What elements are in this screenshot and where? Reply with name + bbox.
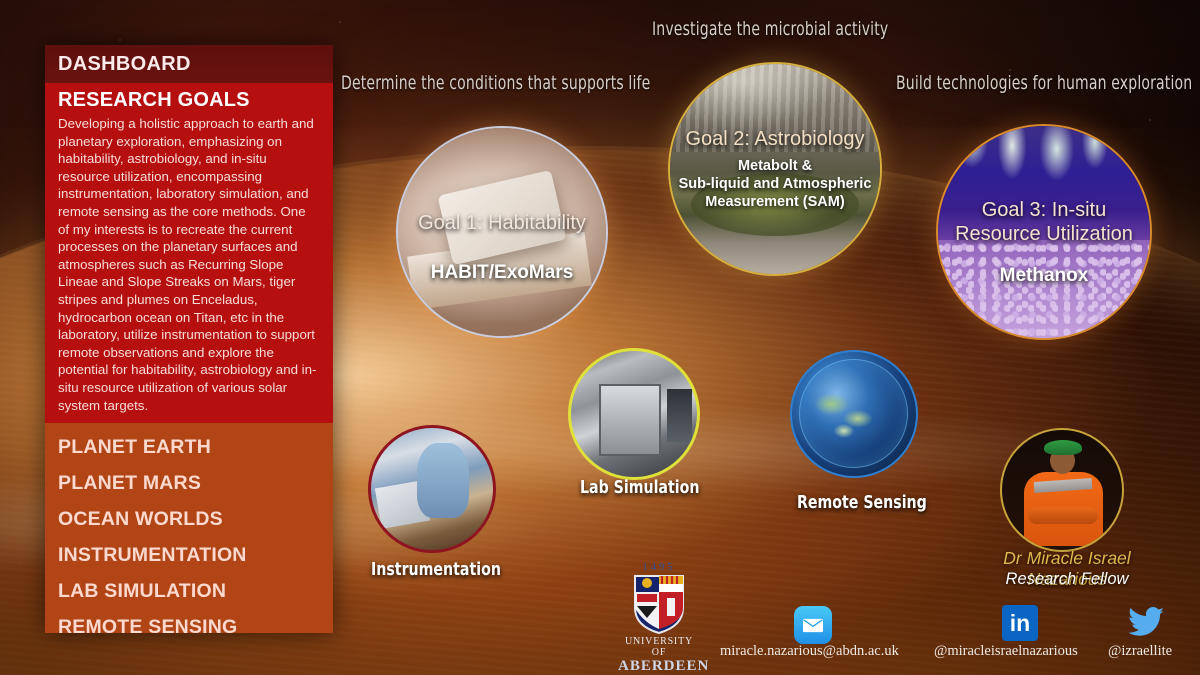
heading-determine-conditions: Determine the conditions that supports l… — [341, 72, 650, 94]
method-circle-lab-simulation[interactable] — [568, 348, 700, 480]
goal1-subtitle: HABIT/ExoMars — [431, 263, 574, 282]
avatar[interactable] — [1000, 428, 1124, 552]
twitter-icon[interactable] — [1128, 606, 1166, 640]
sidebar-item-planet-earth[interactable]: PLANET EARTH — [45, 429, 333, 465]
sidebar-item-lab-simulation[interactable]: LAB SIMULATION — [45, 573, 333, 609]
sidebar: DASHBOARD RESEARCH GOALS Developing a ho… — [45, 45, 333, 633]
method-circle-instrumentation[interactable] — [368, 425, 496, 553]
university-line2: ABERDEEN — [618, 658, 700, 675]
caption-instrumentation: Instrumentation — [371, 560, 501, 580]
email-icon[interactable] — [794, 606, 832, 644]
goal3-subtitle: Methanox — [1000, 266, 1089, 285]
linkedin-icon[interactable]: in — [1002, 605, 1038, 641]
hard-hat-icon — [1044, 440, 1082, 456]
sidebar-header[interactable]: DASHBOARD — [45, 45, 333, 83]
sidebar-item-instrumentation[interactable]: INSTRUMENTATION — [45, 537, 333, 573]
sidebar-menu: PLANET EARTH PLANET MARS OCEAN WORLDS IN… — [45, 423, 333, 633]
research-goals-title: RESEARCH GOALS — [58, 89, 320, 112]
goal2-title: Goal 2: Astrobiology — [686, 127, 865, 151]
avatar-arms — [1028, 507, 1098, 524]
goal3-title: Goal 3: In-situ Resource Utilization — [955, 198, 1133, 246]
goal1-title: Goal 1: Habitability — [418, 211, 586, 235]
heading-build-technologies: Build technologies for human exploration — [896, 72, 1192, 94]
sidebar-item-planet-mars[interactable]: PLANET MARS — [45, 465, 333, 501]
heading-investigate-microbial: Investigate the microbial activity — [652, 18, 888, 40]
profile-title: Research Fellow — [962, 570, 1172, 589]
goal-circle-insitu-resource[interactable]: Goal 3: In-situ Resource Utilization Met… — [936, 124, 1152, 340]
linkedin-handle[interactable]: @miracleisraelnazarious — [934, 643, 1078, 660]
sidebar-item-ocean-worlds[interactable]: OCEAN WORLDS — [45, 501, 333, 537]
university-year: 1495 — [618, 562, 700, 573]
twitter-handle[interactable]: @izraellite — [1108, 643, 1172, 660]
research-goals-text: Developing a holistic approach to earth … — [58, 115, 320, 414]
email-address[interactable]: miracle.nazarious@abdn.ac.uk — [720, 643, 899, 660]
university-logo[interactable]: 1495 UNIVERSITY OF ABERDEEN — [618, 562, 700, 675]
method-circle-remote-sensing[interactable] — [790, 350, 918, 478]
university-line1: UNIVERSITY OF — [618, 636, 700, 658]
research-goals-panel: RESEARCH GOALS Developing a holistic app… — [45, 83, 333, 423]
goal-circle-habitability[interactable]: Goal 1: Habitability HABIT/ExoMars — [396, 126, 608, 338]
dashboard-label: DASHBOARD — [58, 53, 320, 76]
dashboard-poster: DASHBOARD RESEARCH GOALS Developing a ho… — [0, 0, 1200, 675]
caption-remote-sensing: Remote Sensing — [797, 493, 927, 513]
goal2-subtitle: Metabolt & Sub-liquid and Atmospheric Me… — [679, 157, 872, 211]
caption-lab-simulation: Lab Simulation — [580, 478, 699, 498]
sidebar-item-remote-sensing[interactable]: REMOTE SENSING — [45, 609, 333, 633]
goal-circle-astrobiology[interactable]: Goal 2: Astrobiology Metabolt & Sub-liqu… — [668, 62, 882, 276]
university-crest-icon — [633, 574, 685, 634]
